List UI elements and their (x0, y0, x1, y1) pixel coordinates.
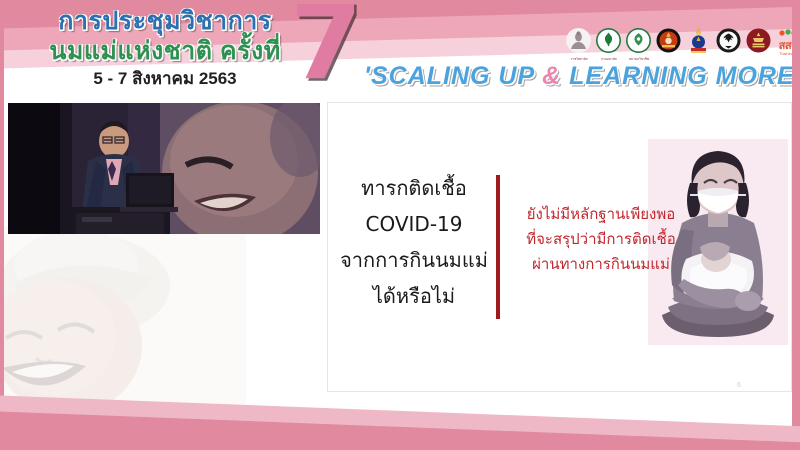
logo-royal-seal-wrap: ราชวิทยาลัย (566, 28, 592, 58)
logo-gold-pagoda-icon (686, 28, 711, 53)
logo-dark-red-crest-wrap (746, 28, 772, 58)
answer-line-1: ยังไม่มีหลักฐานเพียงพอ (507, 202, 695, 227)
red-vertical-divider-bar (496, 175, 500, 319)
conference-edition-number: 7 (290, 4, 362, 94)
logo-green-ring-2-icon (626, 28, 651, 53)
logo-dark-red-crest-icon (746, 28, 771, 53)
conference-date: 5 - 7 สิงหาคม 2563 (30, 68, 300, 90)
footer-diagonal-bands (0, 380, 800, 450)
logo-thaihealth-sss: สสส ThaiHealth (778, 29, 792, 57)
organizer-logo-strip: ราชวิทยาลัย กรมอนามัย (566, 28, 792, 58)
logo-green-ring-2-wrap: สมาคมวิชาชีพ (626, 28, 652, 58)
logo-royal-seal-icon (566, 28, 591, 53)
answer-line-2: ที่จะสรุปว่ามีการติดเชื้อ (507, 227, 695, 252)
conference-title-line2: นมแม่แห่งชาติ ครั้งที่ (30, 36, 300, 66)
content-panel-top-border (327, 102, 792, 103)
logo-red-crown-icon (656, 28, 681, 53)
slogan-text-part2: LEARNING MORE' (561, 62, 792, 90)
question-text-block: ทารกติดเชื้อ COVID-19 จากการกินนมแม่ ได้… (338, 170, 490, 314)
slide-canvas: การประชุมวิชาการ นมแม่แห่งชาติ ครั้งที่ … (4, 4, 792, 438)
logo-royal-seal-caption: ราชวิทยาลัย (566, 57, 592, 62)
answer-text-block: ยังไม่มีหลักฐานเพียงพอ ที่จะสรุปว่ามีการ… (507, 202, 695, 277)
conference-title-line1: การประชุมวิชาการ (30, 6, 300, 36)
slogan-ampersand: & (542, 62, 561, 90)
logo-green-ring-1-icon (596, 28, 621, 53)
logo-sss-sub-text: ThaiHealth (778, 53, 792, 57)
question-line-1: ทารกติดเชื้อ (338, 170, 490, 206)
content-panel-left-border (327, 102, 328, 392)
logo-red-crown-wrap (656, 28, 682, 58)
slogan-text-part1: 'SCALING UP (364, 62, 542, 90)
logo-green-ring-1-caption: กรมอนามัย (596, 57, 622, 62)
logo-gold-pagoda-wrap (686, 28, 712, 58)
slide-outer-frame: การประชุมวิชาการ นมแม่แห่งชาติ ครั้งที่ … (0, 0, 800, 450)
answer-line-3: ผ่านทางการกินนมแม่ (507, 252, 695, 277)
conference-video-thumbnail[interactable] (8, 103, 320, 234)
logo-green-ring-2-caption: สมาคมวิชาชีพ (626, 57, 652, 62)
question-line-4: ได้หรือไม่ (338, 278, 490, 314)
question-line-3: จากการกินนมแม่ (338, 242, 490, 278)
logo-sss-main-text: สสส (779, 40, 792, 52)
conference-slogan: 'SCALING UP & LEARNING MORE' (364, 62, 784, 91)
conference-title-group: การประชุมวิชาการ นมแม่แห่งชาติ ครั้งที่ … (30, 6, 300, 90)
logo-black-garuda-wrap (716, 28, 742, 58)
content-panel-right-border (791, 102, 792, 392)
logo-green-ring-1-wrap: กรมอนามัย (596, 28, 622, 58)
question-line-2: COVID-19 (338, 206, 490, 242)
logo-black-garuda-icon (716, 28, 741, 53)
